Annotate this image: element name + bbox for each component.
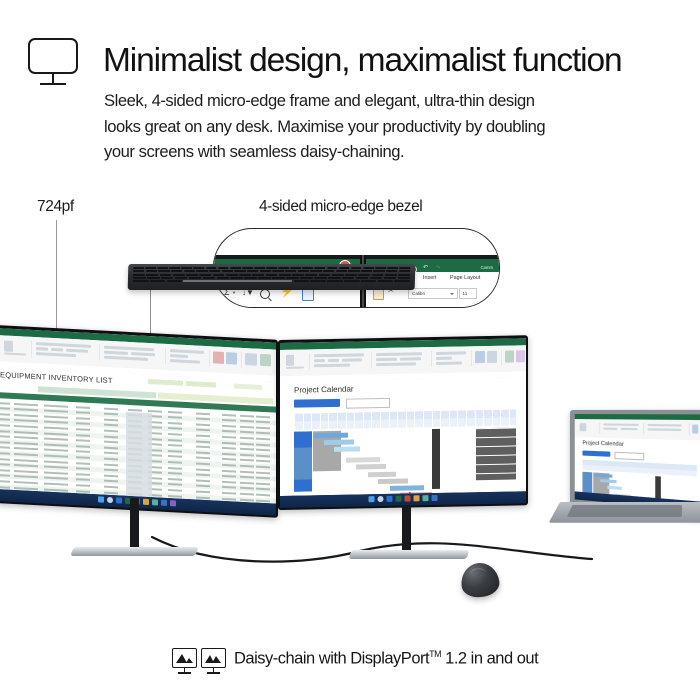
laptop-screen: Project Calendar: [575, 414, 700, 511]
laptop-select-week-button[interactable]: [582, 450, 610, 456]
select-week-button[interactable]: [294, 399, 340, 408]
laptop-project-calendar-title: Project Calendar: [582, 440, 623, 448]
center-monitor: Project Calendar ✚: [278, 335, 528, 510]
monitor-icon: [24, 38, 84, 90]
font-size-value: 11: [463, 291, 468, 296]
footer-caption-trademark: TM: [429, 649, 441, 659]
monitor-icon-foot: [40, 83, 66, 85]
undo-icon[interactable]: ↶: [423, 264, 428, 271]
editing-group-label: Editing: [222, 303, 233, 307]
center-taskbar-icons[interactable]: [369, 495, 438, 502]
image-glyph-2: [204, 651, 223, 665]
laptop-date-field[interactable]: [614, 452, 644, 461]
keyboard[interactable]: [128, 264, 416, 290]
laptop: Project Calendar: [560, 410, 700, 560]
daisy-chain-icon-monitor-2: [201, 648, 226, 668]
center-monitor-stand-base: [349, 550, 470, 559]
daisy-chain-icon-foot-2: [207, 672, 220, 674]
page-root: Minimalist design, maximalist function S…: [0, 0, 700, 700]
daisy-chain-icon-foot-1: [178, 672, 191, 674]
tab-page-layout[interactable]: Page Layout: [450, 275, 480, 281]
project-calendar-title: Project Calendar: [294, 385, 354, 395]
right-comments-label[interactable]: Comm: [481, 265, 493, 270]
page-description: Sleek, 4-sided micro-edge frame and eleg…: [104, 88, 624, 165]
footer-caption-suffix: 1.2 in and out: [441, 650, 538, 668]
center-screen-grid: Project Calendar ✚: [280, 377, 526, 496]
description-line-1: Sleek, 4-sided micro-edge frame and eleg…: [104, 88, 624, 114]
monitor-icon-screen: [28, 38, 78, 74]
laptop-base: [549, 502, 700, 523]
bezel-callout-label: 4-sided micro-edge bezel: [259, 198, 422, 216]
image-glyph-1: [175, 651, 194, 665]
redo-icon[interactable]: ↷: [436, 265, 440, 271]
equipment-inventory-title: EQUIPMENT INVENTORY LIST: [0, 370, 113, 385]
font-size-select[interactable]: 11: [459, 288, 477, 299]
description-line-2: looks great on any desk. Maximise your p…: [104, 114, 624, 140]
autosum-dropdown-icon[interactable]: ▼: [232, 290, 236, 295]
laptop-keyboard[interactable]: [567, 505, 682, 517]
product-photo: EQUIPMENT INVENTORY LIST: [0, 315, 700, 635]
daisy-chain-icon-monitor-1: [172, 648, 197, 668]
tab-insert[interactable]: Insert: [423, 275, 436, 281]
date-field[interactable]: [346, 398, 390, 409]
font-name-select[interactable]: Calibri: [408, 288, 458, 299]
center-monitor-stand-neck: [402, 505, 411, 555]
model-callout-label: 724pf: [37, 198, 74, 216]
find-select-icon[interactable]: [260, 289, 270, 299]
page-title: Minimalist design, maximalist function: [103, 41, 683, 81]
font-name-value: Calibri: [412, 291, 425, 296]
left-monitor-stand-base: [70, 547, 199, 556]
left-monitor-screen: EQUIPMENT INVENTORY LIST: [0, 328, 276, 504]
footer-caption-main: Daisy-chain with DisplayPort: [234, 650, 429, 668]
footer-caption: Daisy-chain with DisplayPortTM 1.2 in an…: [234, 649, 538, 669]
center-monitor-screen: Project Calendar ✚: [280, 338, 526, 496]
description-line-3: your screens with seamless daisy-chainin…: [104, 139, 624, 165]
dual-monitor-daisy-chain-icon: [172, 648, 226, 678]
left-monitor-stand-neck: [130, 498, 139, 552]
left-monitor: EQUIPMENT INVENTORY LIST: [0, 325, 278, 518]
keyboard-keys: [133, 267, 410, 282]
left-screen-grid: EQUIPMENT INVENTORY LIST: [0, 367, 276, 504]
